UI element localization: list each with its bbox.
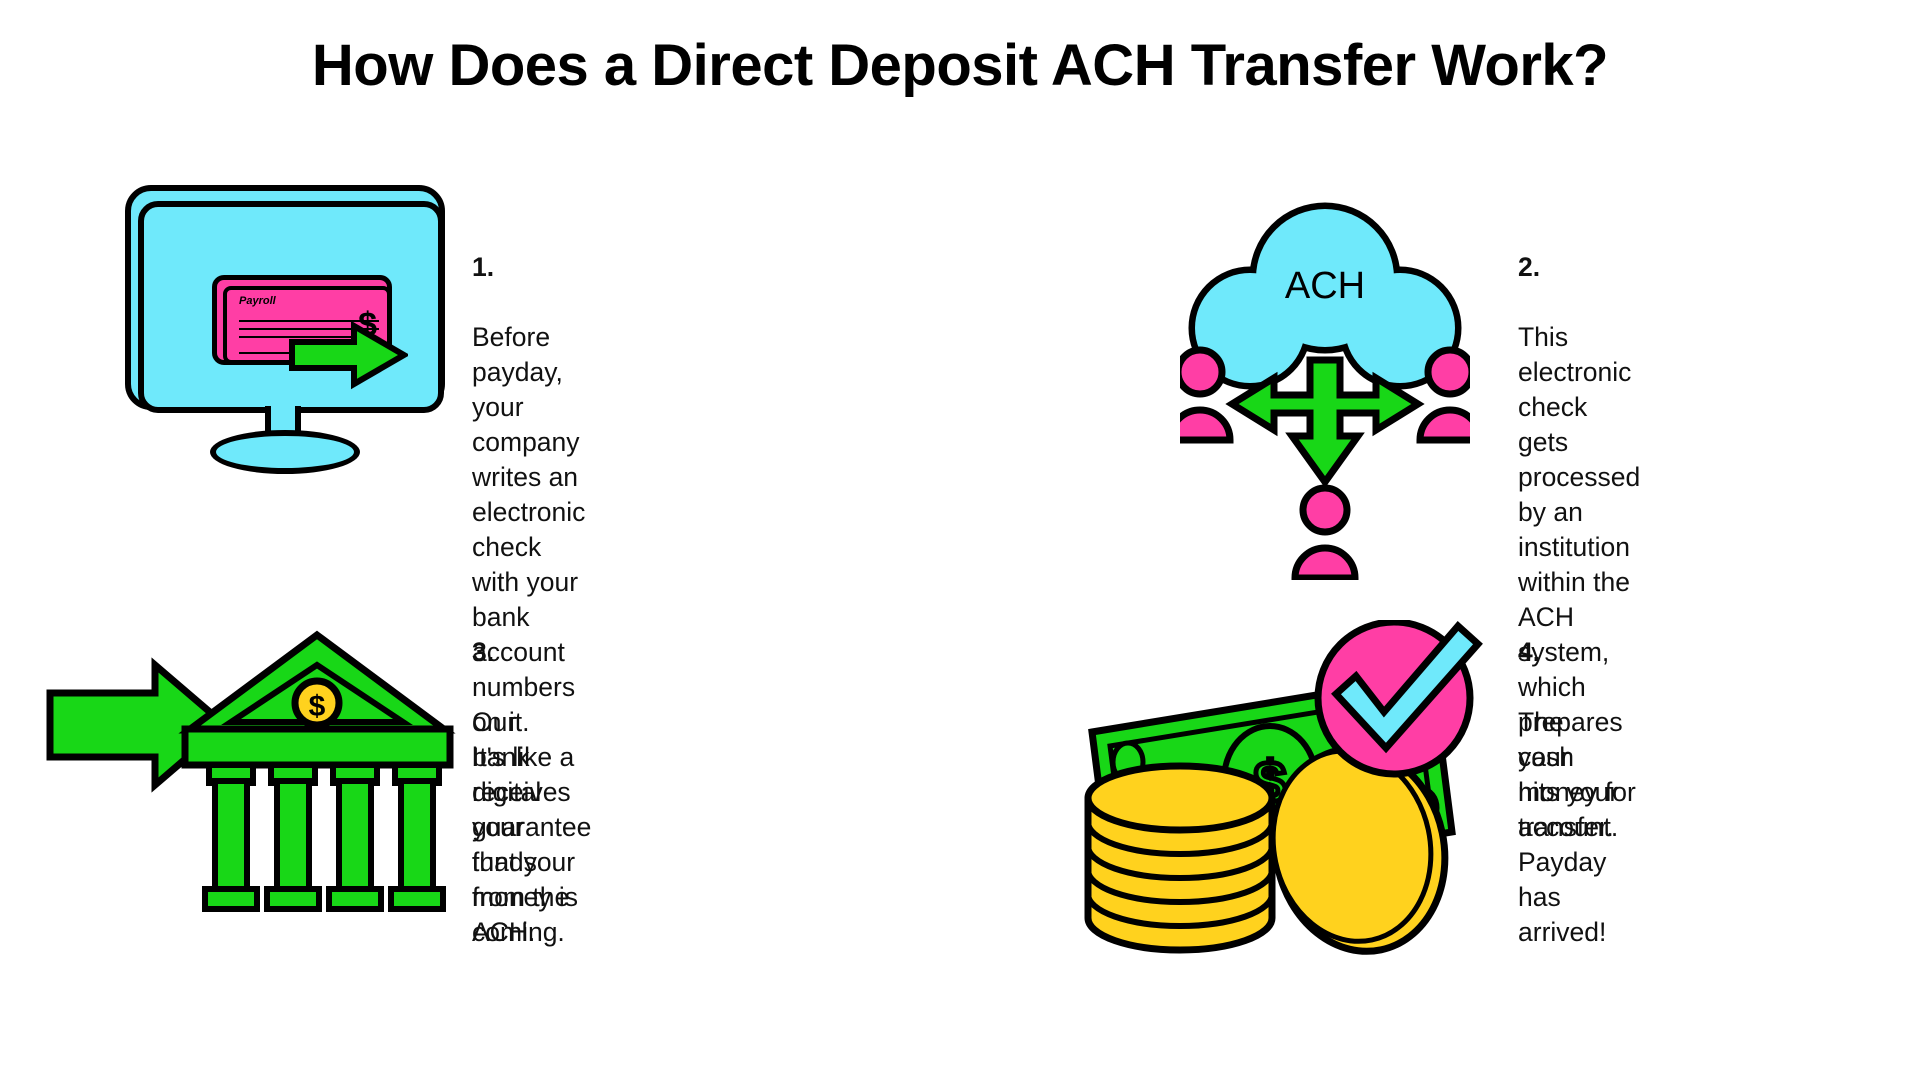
- step-3-text: 3. Our bank receives your funds from the…: [472, 600, 571, 950]
- step-4-text: 4. The cash hits your account. Payday ha…: [1518, 600, 1618, 950]
- person-icon-bottom: [1295, 488, 1355, 578]
- person-icon-left: [1180, 350, 1230, 440]
- svg-text:$: $: [309, 690, 326, 723]
- step-3-number: 3.: [472, 635, 571, 670]
- cash-and-coins-illustration: $: [1080, 620, 1500, 960]
- check-mark-badge-icon: [1318, 622, 1478, 774]
- monitor-with-payroll-check-illustration: Payroll $: [110, 180, 460, 470]
- step-4-body: The cash hits your account. Payday has a…: [1518, 707, 1618, 947]
- person-icon-right: [1420, 350, 1470, 440]
- step-3-body: Our bank receives your funds from the AC…: [472, 707, 571, 947]
- monitor-base-icon: [210, 430, 360, 474]
- bank-columns-icon: [205, 765, 443, 909]
- bank-entablature-icon: [185, 729, 450, 765]
- step-1-number: 1.: [472, 250, 591, 285]
- ach-cloud-illustration: ACH: [1180, 200, 1470, 580]
- check-payroll-label: Payroll: [239, 295, 276, 307]
- ach-cloud-label: ACH: [1285, 265, 1365, 307]
- coin-stack-icon: [1088, 766, 1272, 950]
- bank-building-illustration: $: [45, 625, 465, 945]
- step-4-number: 4.: [1518, 635, 1618, 670]
- page-title: How Does a Direct Deposit ACH Transfer W…: [0, 32, 1920, 99]
- step-2-number: 2.: [1518, 250, 1640, 285]
- bank-coin-icon: $: [295, 681, 339, 725]
- arrow-right-icon: [288, 320, 408, 390]
